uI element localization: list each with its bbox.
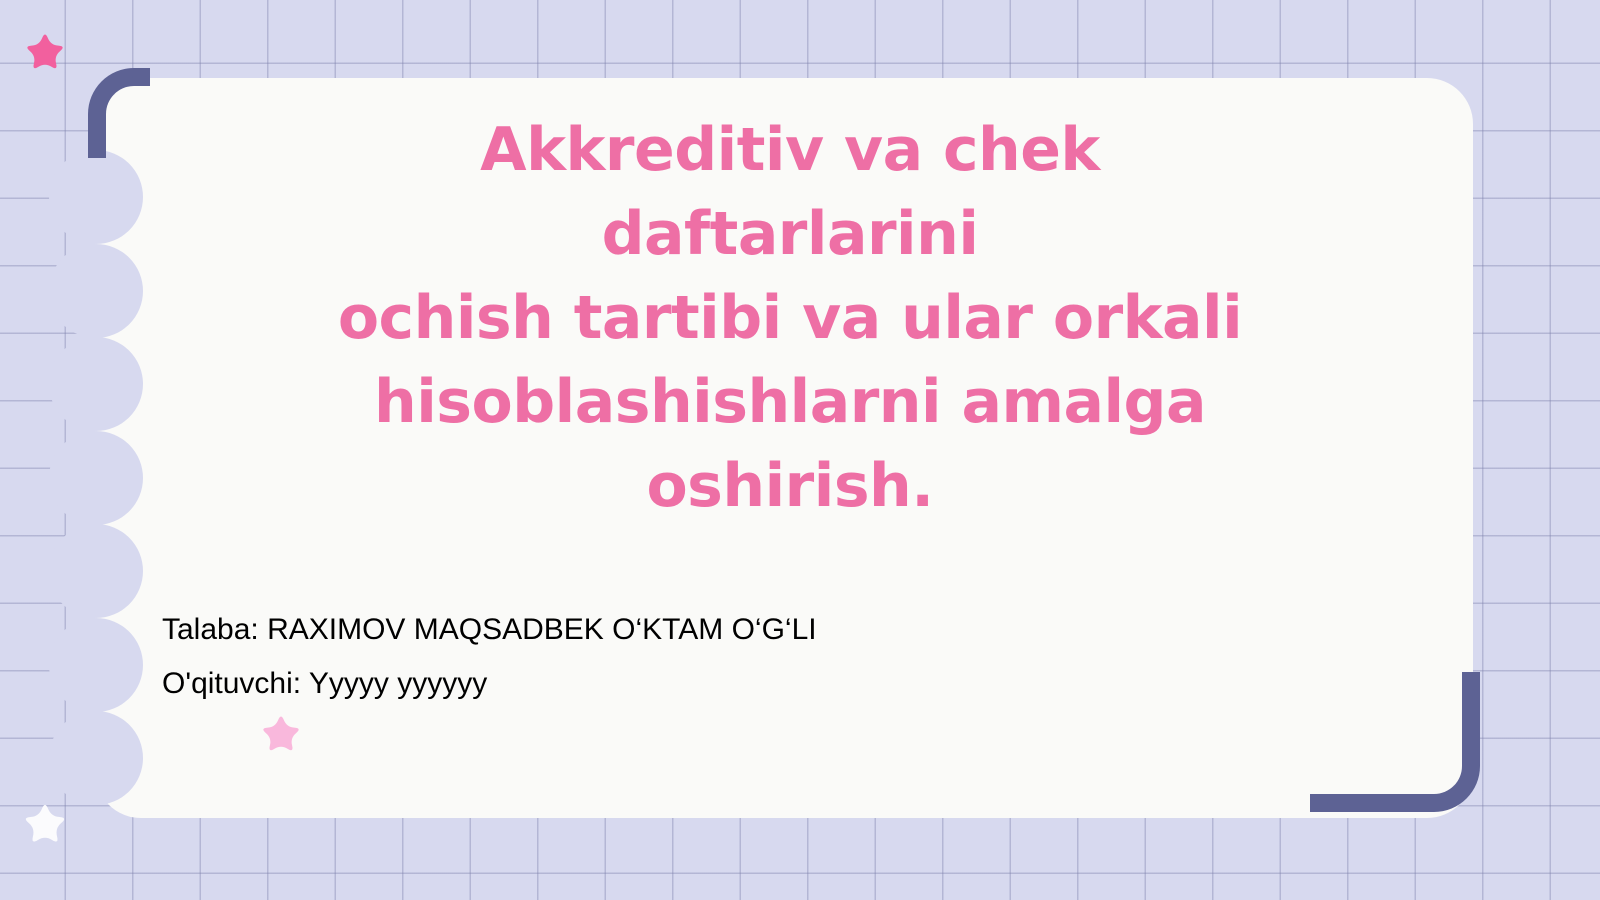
star-card-bottom-icon: [258, 712, 304, 758]
scallop-notch: [49, 337, 143, 431]
slide-title-line: ochish tartibi va ular orkali: [300, 276, 1280, 360]
star-top-left-icon: [22, 30, 68, 76]
scallop-notch: [49, 524, 143, 618]
star-bottom-left-icon: [20, 800, 70, 850]
credit-line: Talaba: RAXIMOV MAQSADBEK O‘KTAM O‘G‘LI: [162, 603, 1162, 657]
credits-block: Talaba: RAXIMOV MAQSADBEK O‘KTAM O‘G‘LIO…: [162, 603, 1162, 711]
slide-title-line: Akkreditiv va chek daftarlarini: [300, 108, 1280, 276]
slide-title-line: hisoblashishlarni amalga: [300, 360, 1280, 444]
scallop-notch: [49, 711, 143, 805]
scallop-notch: [49, 150, 143, 244]
bracket-cap-top-left-top: [132, 68, 150, 86]
presentation-slide: Akkreditiv va chek daftarlariniochish ta…: [0, 0, 1600, 900]
bracket-cap-bottom-right-top: [1462, 672, 1480, 690]
scallop-notch: [49, 431, 143, 525]
corner-bracket-bottom-right: [1310, 672, 1480, 812]
slide-title-line: oshirish.: [300, 444, 1280, 528]
bracket-cap-top-left-bottom: [88, 140, 106, 158]
scallop-notch: [49, 618, 143, 712]
slide-title: Akkreditiv va chek daftarlariniochish ta…: [300, 108, 1280, 528]
scallop-notch: [49, 244, 143, 338]
credit-line: O'qituvchi: Yyyyy yyyyyy: [162, 657, 1162, 711]
bracket-cap-bottom-right-end: [1310, 794, 1328, 812]
